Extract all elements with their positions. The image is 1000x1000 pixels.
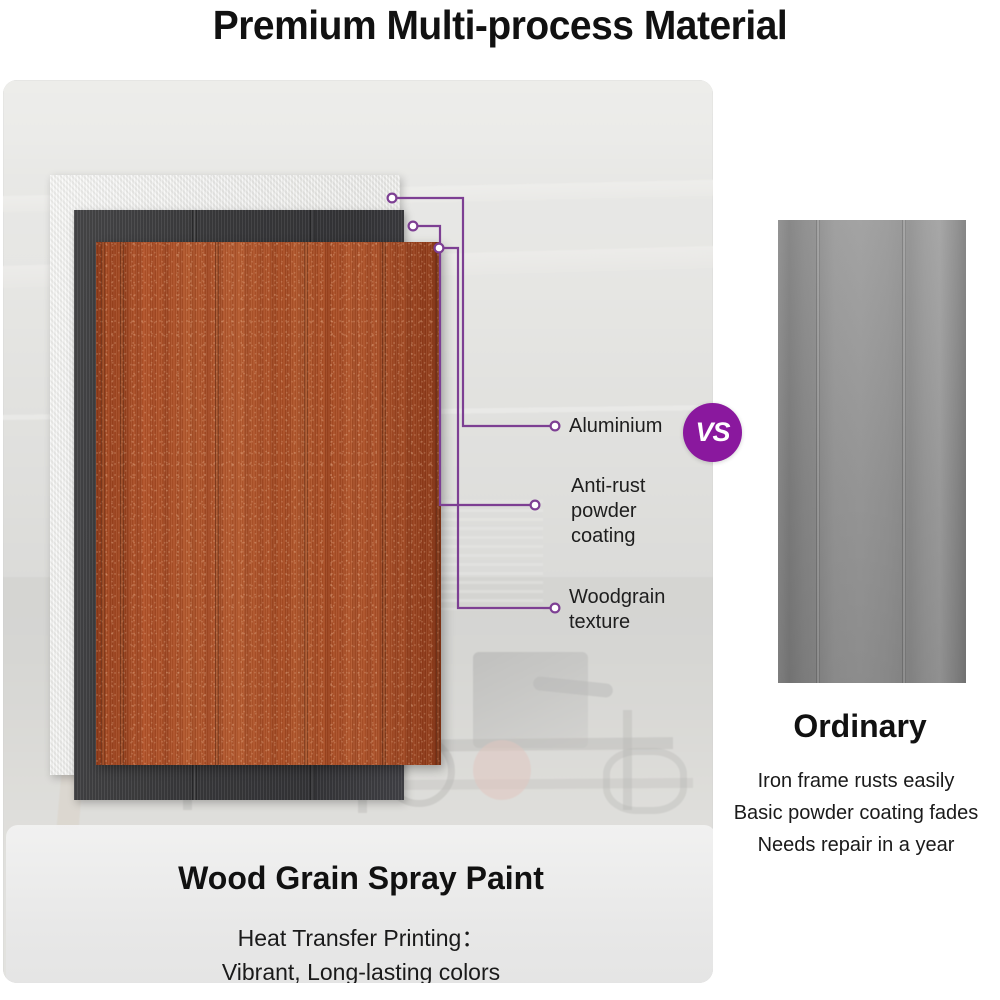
premium-feature-line: Vibrant, Long-lasting colors	[6, 955, 713, 983]
ordinary-drawback-line: Basic powder coating fades	[712, 797, 1000, 829]
callout-label-anti-rust: Anti-rust powder coating	[571, 474, 645, 549]
ordinary-drawback-line: Needs repair in a year	[712, 829, 1000, 861]
callout-label-woodgrain-line2: texture	[569, 610, 665, 635]
wood-speckle-texture	[96, 242, 441, 765]
wood-groove	[120, 242, 124, 765]
callout-label-woodgrain: Woodgrain texture	[569, 585, 665, 635]
ordinary-gray-panel-image	[778, 220, 966, 683]
callout-label-anti-rust-line3: coating	[571, 524, 645, 549]
ordinary-drawback-list: Iron frame rusts easily Basic powder coa…	[712, 765, 1000, 861]
premium-product-card: Aluminium Anti-rust powder coating Woodg…	[3, 80, 713, 983]
wood-groove	[436, 242, 440, 765]
premium-heading: Wood Grain Spray Paint	[6, 860, 713, 897]
wood-groove	[101, 242, 105, 765]
callout-label-anti-rust-line1: Anti-rust	[571, 474, 645, 499]
ordinary-heading: Ordinary	[720, 708, 1000, 745]
panel-shading	[778, 220, 966, 683]
premium-description-overlay: Wood Grain Spray Paint Heat Transfer Pri…	[6, 825, 713, 983]
poster-root: Premium Multi-process Material	[0, 0, 1000, 1000]
wood-groove	[304, 242, 308, 765]
vs-badge-label: VS	[695, 417, 729, 448]
wood-groove	[215, 242, 219, 765]
page-title: Premium Multi-process Material	[25, 2, 975, 49]
woodgrain-layer	[96, 242, 441, 765]
callout-label-aluminium: Aluminium	[569, 414, 662, 439]
wood-groove	[382, 242, 386, 765]
vs-badge: VS	[683, 403, 742, 462]
premium-feature-list: Heat Transfer Printing： Vibrant, Long-la…	[6, 921, 713, 983]
ordinary-drawback-line: Iron frame rusts easily	[712, 765, 1000, 797]
callout-label-woodgrain-line1: Woodgrain	[569, 585, 665, 610]
callout-label-anti-rust-line2: powder	[571, 499, 645, 524]
premium-feature-line: Heat Transfer Printing：	[6, 921, 713, 955]
